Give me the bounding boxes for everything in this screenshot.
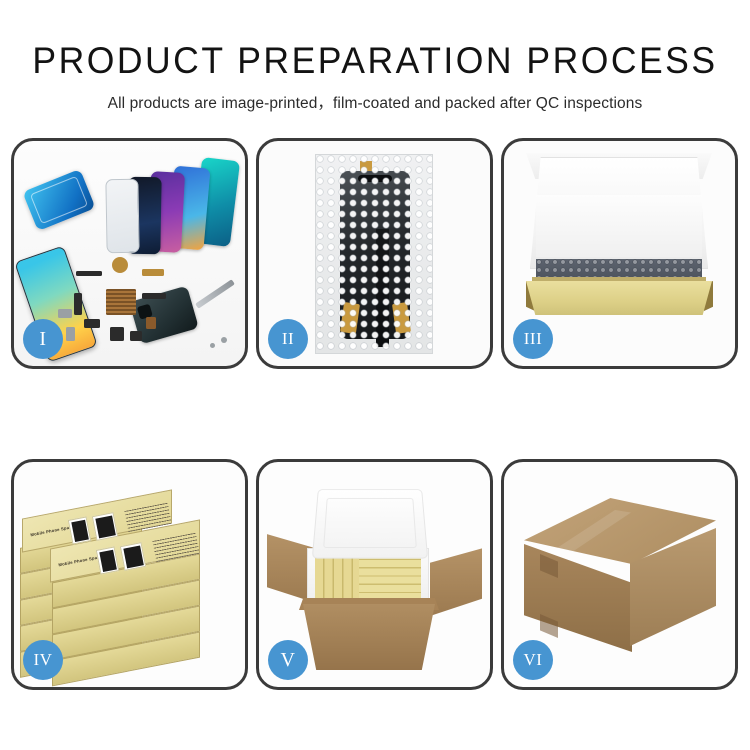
process-step-panel-2: II xyxy=(256,138,493,369)
step-badge-3: III xyxy=(513,319,553,359)
yellow-boxes-stack-icon xyxy=(359,558,421,600)
screw-icon xyxy=(210,343,215,348)
sim-tray-icon xyxy=(66,327,75,341)
box-window-icon xyxy=(92,512,118,541)
taptic-part-icon xyxy=(130,331,142,341)
process-step-panel-1: I xyxy=(11,138,248,369)
step-badge-5: V xyxy=(268,640,308,680)
ribbon-part-icon xyxy=(142,293,166,299)
step-badge-1: I xyxy=(23,319,63,359)
page-subtitle: All products are image-printed，film-coat… xyxy=(0,91,750,113)
chip-part-icon xyxy=(146,317,156,329)
page-title: PRODUCT PREPARATION PROCESS xyxy=(15,42,735,80)
process-step-grid: I II III xyxy=(11,138,739,690)
step-badge-4: IV xyxy=(23,640,63,680)
screwdriver-icon xyxy=(195,279,235,309)
flex-cable-part-icon xyxy=(76,271,102,276)
carton-flap-right-icon xyxy=(430,544,482,616)
step-badge-2: II xyxy=(268,319,308,359)
carton-front-icon xyxy=(303,604,435,670)
camera-part-icon xyxy=(110,327,124,341)
bracket-part-icon xyxy=(58,309,72,318)
process-step-panel-6: VI xyxy=(501,459,738,690)
process-step-panel-3: III xyxy=(501,138,738,369)
screw-tray-icon xyxy=(106,289,136,315)
process-step-panel-5: V xyxy=(256,459,493,690)
foam-sheet-icon xyxy=(536,195,702,257)
bubble-bag-icon xyxy=(315,154,433,354)
yellow-box-tray-icon xyxy=(526,281,712,315)
adhesive-film-icon xyxy=(22,169,95,231)
cable-part-icon xyxy=(74,293,82,315)
process-step-panel-4: Mobile Phone Spare Parts Mobile Phone Sp… xyxy=(11,459,248,690)
page-header: PRODUCT PREPARATION PROCESS All products… xyxy=(0,0,750,113)
speaker-part-icon xyxy=(112,257,128,273)
connector-part-icon xyxy=(142,269,164,276)
screw-icon xyxy=(221,337,227,343)
screen-protector-icon xyxy=(105,179,139,254)
foam-lid-icon xyxy=(312,489,428,558)
step-badge-6: VI xyxy=(513,640,553,680)
box-window-icon xyxy=(120,542,146,571)
button-part-icon xyxy=(84,319,100,328)
bubble-texture-icon xyxy=(316,155,432,353)
